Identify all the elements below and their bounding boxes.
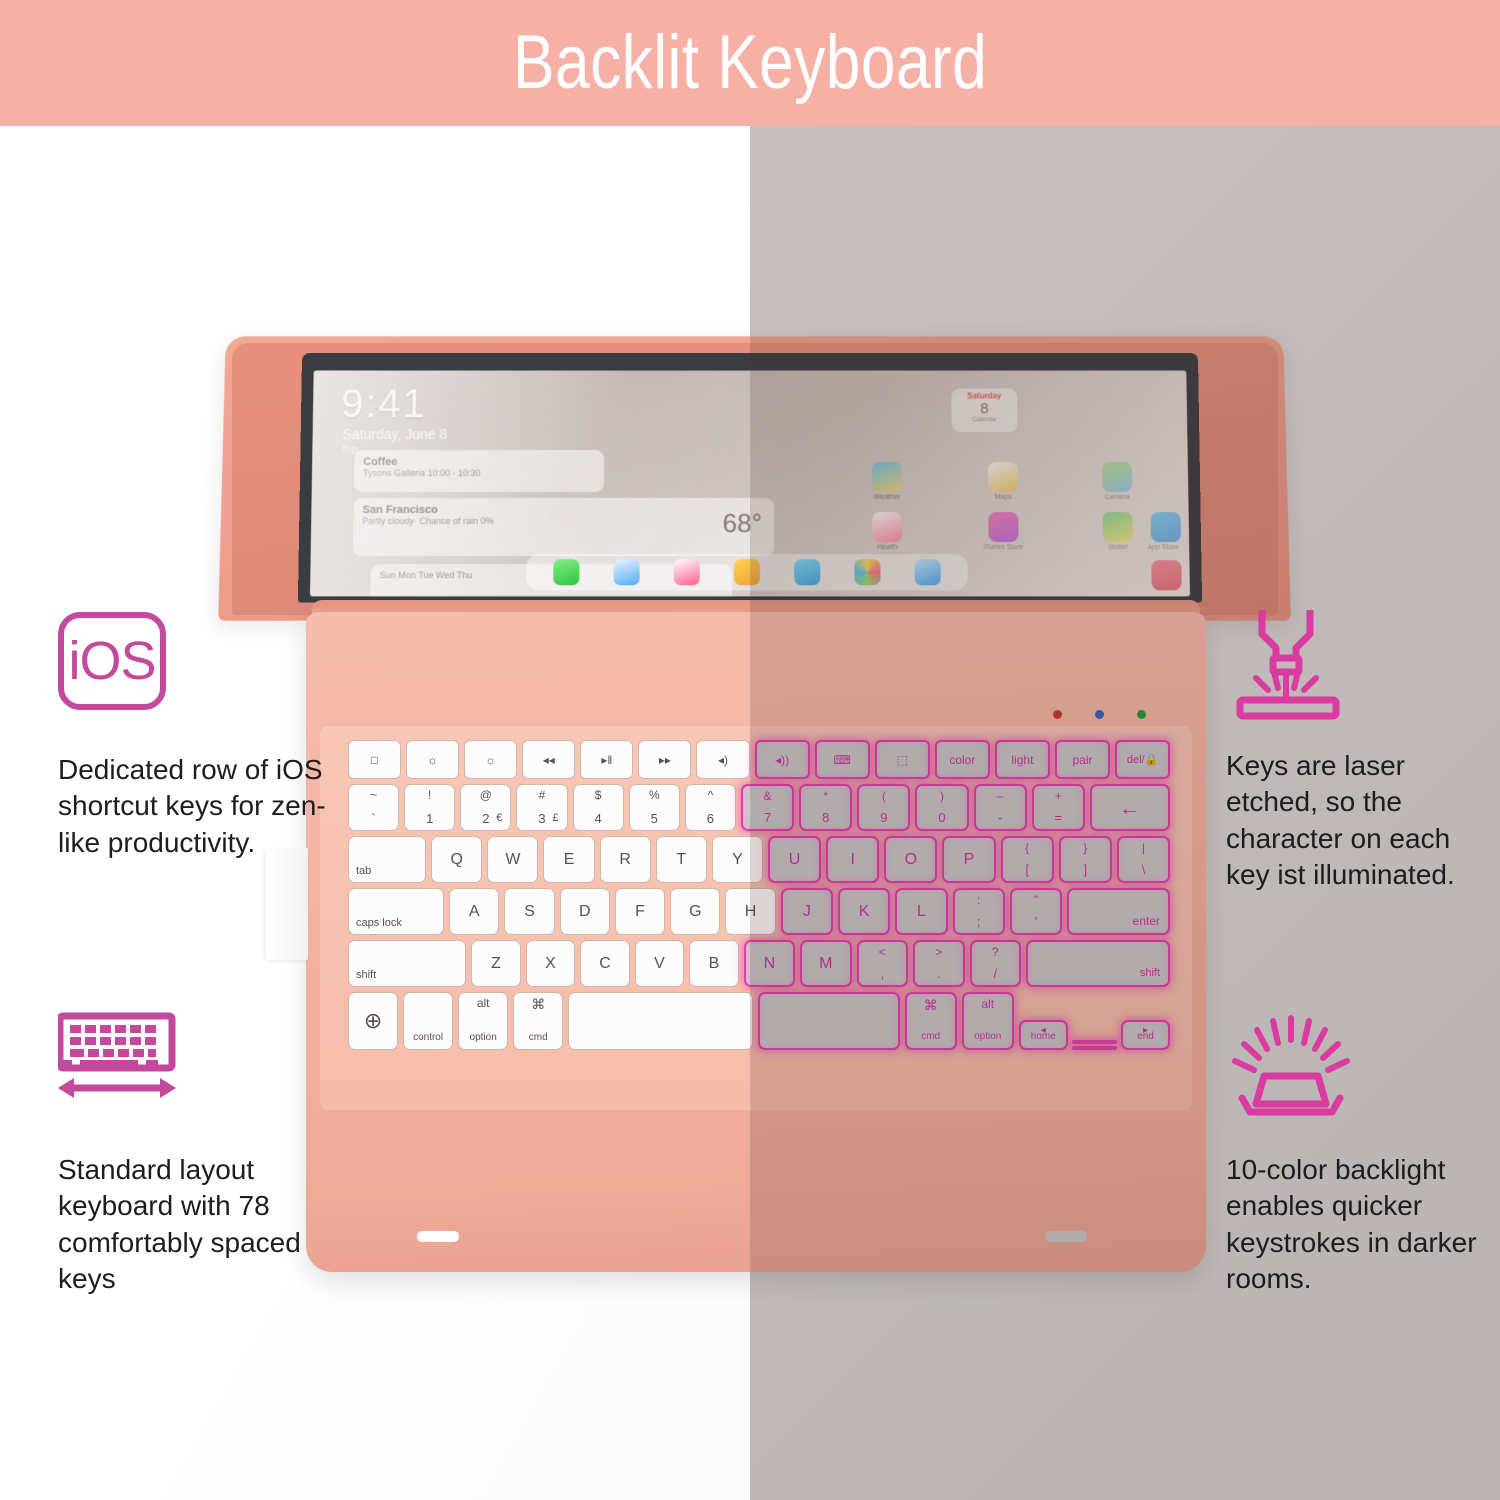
key-k[interactable]: K	[838, 888, 890, 935]
lockscreen-time: 9:41	[341, 384, 427, 424]
keyboard-row-function: □ ☼ ☼ ◂◂ ▸‖ ▸▸ ◂) ◂)) ⌨ ⬚ color light pa…	[348, 740, 1170, 779]
backlight-glow-icon	[1226, 1012, 1496, 1132]
key-arrow-down-pgdn[interactable]: pgdn ▼	[1072, 1046, 1117, 1050]
app-icon-weather	[872, 462, 902, 492]
keyboard-row-qwerty: tab Q W E R T Y U I O P { [ } ] | \	[348, 836, 1170, 883]
key-equals[interactable]: + =	[1032, 784, 1085, 831]
key-6[interactable]: ^ 6	[685, 784, 736, 831]
page-title: Backlit Keyboard	[513, 25, 987, 101]
widget-calendar-day: 8	[954, 400, 1014, 417]
dock-icon-mail	[734, 559, 760, 585]
widget-weather-sub: Partly cloudy· Chance of rain 0%	[362, 516, 765, 526]
app-icon-itunes	[988, 512, 1018, 542]
dock-icon-skype	[915, 559, 941, 585]
bluetooth-led	[1095, 710, 1104, 719]
app-label-appstore: App Store	[1135, 544, 1190, 551]
key-globe-language[interactable]: ⊕	[348, 992, 398, 1050]
feature-standard-layout: Standard layout keyboard with 78 comfort…	[58, 1012, 328, 1298]
keyboard-keys[interactable]: □ ☼ ☼ ◂◂ ▸‖ ▸▸ ◂) ◂)) ⌨ ⬚ color light pa…	[348, 740, 1170, 1055]
feature-backlight-text: 10-color backlight enables quicker keyst…	[1226, 1152, 1496, 1298]
key-command-left[interactable]: ⌘ cmd	[513, 992, 563, 1050]
app-icon-pinterest	[1151, 560, 1182, 590]
key-rewind[interactable]: ◂◂	[522, 740, 575, 779]
key-e[interactable]: E	[543, 836, 594, 883]
arrow-updown-column: ▲ pgup pgdn ▼	[1072, 1040, 1117, 1050]
app-icon-camera	[988, 462, 1018, 492]
key-s[interactable]: S	[504, 888, 554, 935]
widget-weather: San Francisco Partly cloudy· Chance of r…	[353, 498, 774, 556]
app-label-health: Health	[859, 544, 915, 551]
tablet-screen: 9:41 Saturday, June 8 f9p Coffee Tysons …	[310, 371, 1190, 597]
key-3[interactable]: # 3 £	[516, 784, 567, 831]
dock-icon-photos	[854, 559, 880, 585]
key-bracket-right[interactable]: } ]	[1059, 836, 1112, 883]
key-minus[interactable]: – -	[974, 784, 1027, 831]
key-brightness-down[interactable]: ☼	[406, 740, 459, 779]
key-lock-screen[interactable]: ⬚	[875, 740, 930, 779]
dock-icon-messages	[553, 559, 579, 585]
case-foot-left	[417, 1231, 459, 1242]
header-banner: Backlit Keyboard	[0, 0, 1500, 126]
key-1[interactable]: ! 1	[404, 784, 455, 831]
key-y[interactable]: Y	[712, 836, 763, 883]
keyboard-row-shift: shift Z X C V B N M < , > . ? / shift	[348, 940, 1170, 987]
case-foot-right	[1045, 1231, 1087, 1242]
app-icon-wallet	[1102, 512, 1132, 542]
widget-weather-title: San Francisco	[362, 504, 765, 516]
key-caps-lock[interactable]: caps lock	[348, 888, 444, 935]
key-control[interactable]: control	[403, 992, 453, 1050]
key-g[interactable]: G	[670, 888, 720, 935]
laser-etch-icon	[1226, 608, 1496, 728]
key-backlight-color[interactable]: color	[935, 740, 990, 779]
widget-calendar: Saturday 8 Calendar	[951, 388, 1017, 432]
key-p[interactable]: P	[942, 836, 995, 883]
app-icon-appstore	[1151, 512, 1182, 542]
app-label-maps: Camera	[1089, 494, 1145, 501]
keyboard-row-bottom: ⊕ control alt option ⌘ cmd ⌘ cmd alt opt…	[348, 992, 1170, 1050]
key-r[interactable]: R	[600, 836, 651, 883]
key-j[interactable]: J	[781, 888, 833, 935]
key-o[interactable]: O	[884, 836, 937, 883]
key-8[interactable]: * 8	[799, 784, 852, 831]
key-slash[interactable]: ? /	[970, 940, 1021, 987]
key-enter[interactable]: enter	[1067, 888, 1170, 935]
key-0[interactable]: ) 0	[915, 784, 968, 831]
key-4[interactable]: $ 4	[573, 784, 624, 831]
key-d[interactable]: D	[560, 888, 610, 935]
feature-layout-text: Standard layout keyboard with 78 comfort…	[58, 1152, 328, 1298]
key-bluetooth-pair[interactable]: pair	[1055, 740, 1110, 779]
key-keyboard-backlight[interactable]: ⌨	[815, 740, 870, 779]
key-option-right[interactable]: alt option	[962, 992, 1014, 1050]
keyboard-width-icon	[58, 1012, 328, 1132]
key-brightness-up[interactable]: ☼	[464, 740, 517, 779]
key-i[interactable]: I	[826, 836, 879, 883]
app-icon-maps	[1102, 462, 1132, 492]
caps-lock-led	[1053, 710, 1062, 719]
arrow-key-cluster: ◂ home ▲ pgup pgdn ▼ ▸ end	[1019, 992, 1170, 1050]
widget-calendar-weekday: Saturday	[954, 391, 1014, 400]
key-5[interactable]: % 5	[629, 784, 680, 831]
key-delete-lock[interactable]: del/🔒	[1115, 740, 1170, 779]
key-spacebar-left[interactable]	[568, 992, 752, 1050]
key-play-pause[interactable]: ▸‖	[580, 740, 633, 779]
key-arrow-left-home[interactable]: ◂ home	[1019, 1020, 1068, 1050]
lockscreen-date: Saturday, June 8	[343, 426, 448, 442]
key-f[interactable]: F	[615, 888, 665, 935]
feature-ios-text: Dedicated row of iOS shortcut keys for z…	[58, 752, 328, 861]
case-side-flap	[266, 848, 308, 960]
key-z[interactable]: Z	[471, 940, 520, 987]
key-backlight-level[interactable]: light	[995, 740, 1050, 779]
key-quote[interactable]: " '	[1010, 888, 1062, 935]
key-2[interactable]: @ 2 €	[460, 784, 511, 831]
key-shift-right[interactable]: shift	[1026, 940, 1170, 987]
key-h[interactable]: H	[725, 888, 775, 935]
feature-ios-shortcut-row: iOS Dedicated row of iOS shortcut keys f…	[58, 612, 328, 861]
key-home[interactable]: □	[348, 740, 401, 779]
key-w[interactable]: W	[487, 836, 538, 883]
key-c[interactable]: C	[580, 940, 629, 987]
key-q[interactable]: Q	[431, 836, 482, 883]
key-t[interactable]: T	[656, 836, 707, 883]
key-shift-left[interactable]: shift	[348, 940, 466, 987]
key-bracket-left[interactable]: { [	[1001, 836, 1054, 883]
key-comma[interactable]: < ,	[857, 940, 908, 987]
keyboard-row-home: caps lock A S D F G H J K L : ; " ' ente…	[348, 888, 1170, 935]
key-fast-forward[interactable]: ▸▸	[638, 740, 691, 779]
ios-badge-icon: iOS	[58, 612, 328, 732]
app-label-camera: Maps	[975, 494, 1031, 501]
feature-laser-etched: Keys are laser etched, so the character …	[1226, 608, 1496, 894]
widget-coffee: Coffee Tysons Galleria 10:00 - 10:30	[354, 450, 604, 492]
key-v[interactable]: V	[635, 940, 684, 987]
app-label-itunes: iTunes Store	[976, 544, 1032, 551]
ios-badge-label: iOS	[68, 634, 155, 688]
key-backslash[interactable]: | \	[1117, 836, 1170, 883]
key-semicolon[interactable]: : ;	[953, 888, 1005, 935]
globe-icon: ⊕	[364, 1008, 382, 1034]
key-command-right[interactable]: ⌘ cmd	[905, 992, 957, 1050]
key-option-left[interactable]: alt option	[458, 992, 508, 1050]
key-spacebar-right[interactable]	[758, 992, 900, 1050]
key-mute[interactable]: ◂)	[696, 740, 749, 779]
keyboard-row-numbers: ~ ` ! 1 @ 2 € # 3 £ $ 4 % 5 ^ 6	[348, 784, 1170, 831]
key-tab[interactable]: tab	[348, 836, 426, 883]
key-9[interactable]: ( 9	[857, 784, 910, 831]
app-label-weather: Weather	[859, 494, 915, 501]
key-n[interactable]: N	[744, 940, 795, 987]
key-a[interactable]: A	[449, 888, 499, 935]
key-period[interactable]: > .	[913, 940, 964, 987]
key-volume-up[interactable]: ◂))	[755, 740, 810, 779]
key-l[interactable]: L	[895, 888, 947, 935]
key-m[interactable]: M	[800, 940, 851, 987]
widget-coffee-title: Coffee	[363, 456, 595, 468]
key-tilde[interactable]: ~ `	[348, 784, 399, 831]
key-backspace[interactable]: ←	[1090, 784, 1170, 831]
key-arrow-up-pgup[interactable]: ▲ pgup	[1072, 1040, 1117, 1044]
key-x[interactable]: X	[526, 940, 575, 987]
feature-laser-text: Keys are laser etched, so the character …	[1226, 748, 1496, 894]
dock-icon-music	[674, 559, 700, 585]
power-led	[1137, 710, 1146, 719]
dock-icon-files	[794, 559, 820, 585]
ipad-dock	[526, 554, 968, 590]
key-b[interactable]: B	[689, 940, 738, 987]
tablet-screen-bezel: 9:41 Saturday, June 8 f9p Coffee Tysons …	[298, 353, 1202, 603]
dock-icon-safari	[613, 559, 639, 585]
app-icon-health	[872, 512, 902, 542]
key-u[interactable]: U	[768, 836, 821, 883]
widget-weather-temp: 68°	[723, 508, 762, 539]
widget-calendar-label: Calendar	[955, 417, 1015, 423]
key-7[interactable]: & 7	[741, 784, 794, 831]
key-arrow-right-end[interactable]: ▸ end	[1121, 1020, 1170, 1050]
widget-coffee-sub: Tysons Galleria 10:00 - 10:30	[363, 468, 595, 478]
feature-backlight-colors: 10-color backlight enables quicker keyst…	[1226, 1012, 1496, 1298]
